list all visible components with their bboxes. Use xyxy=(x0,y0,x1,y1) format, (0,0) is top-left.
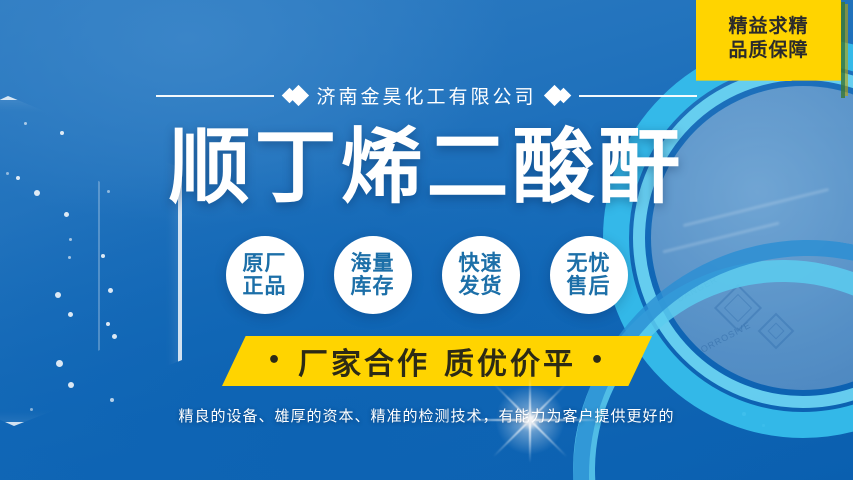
company-name-row: 济南金昊化工有限公司 xyxy=(0,82,853,109)
quality-tag-line-1: 精益求精 xyxy=(704,14,833,38)
feature-badge-2[interactable]: 海量 库存 xyxy=(334,236,412,314)
feature-badge-4[interactable]: 无忧 售后 xyxy=(550,236,628,314)
feature-badge-1-line-1: 原厂 xyxy=(243,252,287,275)
feature-badge-4-line-2: 售后 xyxy=(567,275,611,298)
quality-tag: 精益求精 品质保障 xyxy=(696,0,841,81)
slogan-bar: • 厂家合作 质优价平 • xyxy=(222,336,652,386)
rule-left-decor xyxy=(156,95,274,97)
slogan-text-1: 厂家合作 xyxy=(298,339,430,383)
diamond-left-icon xyxy=(286,88,304,103)
slogan-text-2: 质优价平 xyxy=(444,339,576,383)
promotional-banner: DANGER CORROSIVE 精益求精 品质保障 济南金昊化工有限公司 顺丁… xyxy=(0,0,853,480)
slogan-bullet-left-icon: • xyxy=(267,350,284,372)
feature-badge-3-line-2: 发货 xyxy=(459,275,503,298)
slogan-bullet-right-icon: • xyxy=(590,350,607,372)
rule-right-decor xyxy=(579,95,697,97)
feature-badge-1[interactable]: 原厂 正品 xyxy=(226,236,304,314)
feature-badge-3[interactable]: 快速 发货 xyxy=(442,236,520,314)
company-name: 济南金昊化工有限公司 xyxy=(316,82,536,109)
diamond-right-icon xyxy=(549,88,567,103)
subtitle-text: 精良的设备、雄厚的资本、精准的检测技术，有能力为客户提供更好的 xyxy=(0,405,853,426)
feature-badge-4-line-1: 无忧 xyxy=(567,252,611,275)
product-title: 顺丁烯二酸酐 xyxy=(0,125,853,211)
feature-badges: 原厂 正品 海量 库存 快速 发货 无忧 售后 xyxy=(0,236,853,314)
feature-badge-2-line-1: 海量 xyxy=(351,252,395,275)
feature-badge-2-line-2: 库存 xyxy=(351,275,395,298)
feature-badge-1-line-2: 正品 xyxy=(243,275,287,298)
quality-tag-line-2: 品质保障 xyxy=(704,38,833,62)
feature-badge-3-line-1: 快速 xyxy=(459,252,503,275)
